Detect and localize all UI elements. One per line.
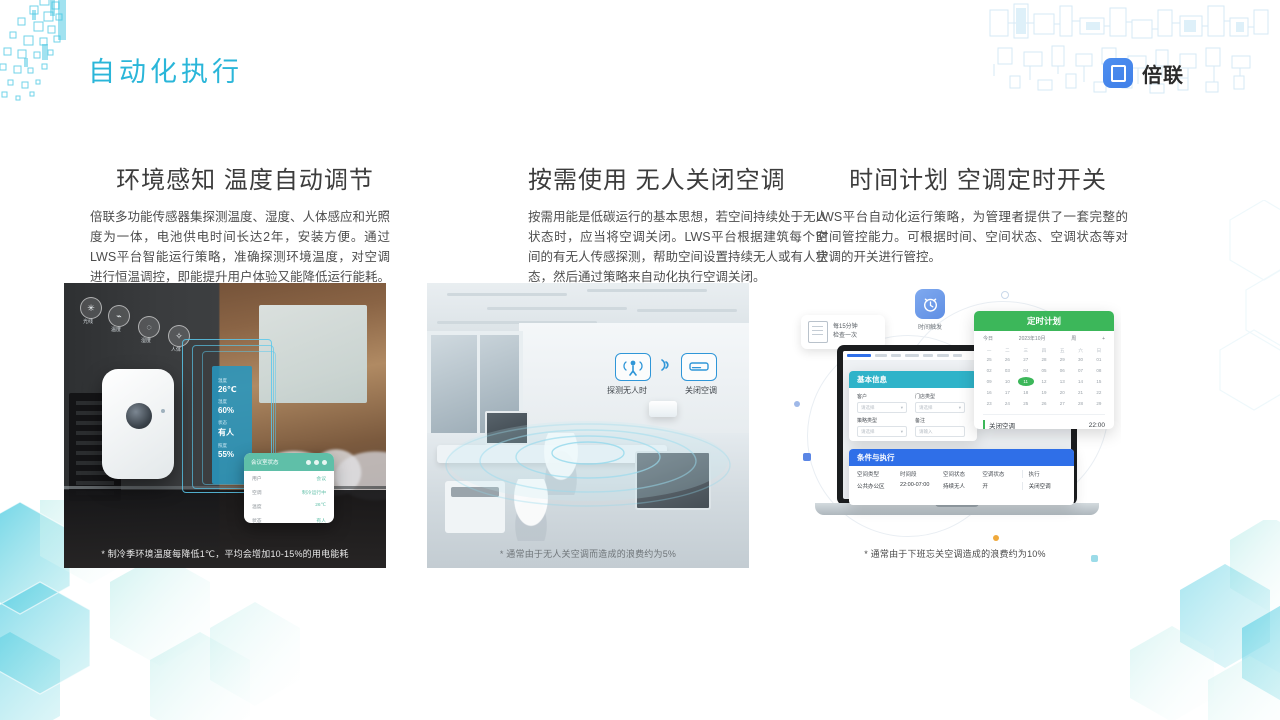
cell-space-status: 持续无人 xyxy=(943,482,982,490)
weekday-label: 六 xyxy=(1072,346,1088,355)
calendar-day-cell[interactable]: 15 xyxy=(1091,377,1107,386)
calendar-day-cell[interactable]: 02 xyxy=(981,366,997,375)
square-logo-icon xyxy=(1103,58,1133,88)
calendar-day-cell[interactable]: 14 xyxy=(1072,377,1088,386)
calendar-day-cell[interactable]: 25 xyxy=(1018,399,1034,408)
condition-panel-title: 条件与执行 xyxy=(849,449,1074,466)
status-card-title: 会议室状态 xyxy=(251,458,279,466)
calendar-day-cell[interactable]: 16 xyxy=(981,388,997,397)
figure-office-photo: 探测无人时 关闭空调 * 通常由于无人关空调而造成的浪费约为5% xyxy=(427,283,749,568)
status-row-2-label: 温度 xyxy=(252,503,262,510)
calendar-day-cell[interactable]: 21 xyxy=(1072,388,1088,397)
calendar-add-button[interactable]: + xyxy=(1102,336,1105,342)
calendar-day-cell[interactable]: 12 xyxy=(1036,377,1052,386)
cell-action: 关闭空调 xyxy=(1022,482,1066,490)
meeting-room-status-card: 会议室状态 用户 会议 空调 制冷运行中 温度 26℃ 状态 有人 xyxy=(244,453,334,523)
check-interval-line-2: 检查一次 xyxy=(833,332,858,341)
humidity-icon: ◌ xyxy=(138,316,160,338)
deco-dot xyxy=(794,401,800,407)
readout-value-2: 有人 xyxy=(218,427,246,438)
figure-sensor-photo: ✳ 光线 ⌁ 温度 ◌ 湿度 ✧ 人体 温度 26℃ 湿度 60% 状态 有人 … xyxy=(64,283,386,568)
field-remark-input[interactable]: 请输入 xyxy=(915,426,965,437)
weekday-label: 五 xyxy=(1054,346,1070,355)
calendar-day-cell[interactable]: 09 xyxy=(981,377,997,386)
calendar-today-button[interactable]: 今日 xyxy=(983,335,993,342)
readout-label-2: 状态 xyxy=(218,420,246,426)
calendar-day-cell[interactable]: 25 xyxy=(981,355,997,364)
column-2-heading: 按需使用 无人关闭空调 xyxy=(528,160,752,195)
col-header-space-status: 空间状态 xyxy=(943,470,982,478)
column-time-schedule: 时间计划 空调定时开关 LWS平台自动化运行策略，为管理者提供了一套完整的时间管… xyxy=(792,160,1124,287)
detection-wave-graphic xyxy=(438,411,738,521)
field-customer-label: 客户 xyxy=(857,393,907,400)
weekday-label: 一 xyxy=(981,346,997,355)
brand-name: 倍联 xyxy=(1142,59,1184,88)
cell-time-range: 22:00-07:00 xyxy=(900,482,943,490)
time-trigger-label: 时间触发 xyxy=(911,322,949,331)
field-remark: 备注 请输入 xyxy=(915,417,965,437)
column-1-heading: 环境感知 温度自动调节 xyxy=(62,160,428,195)
calendar-day-cell[interactable]: 07 xyxy=(1072,366,1088,375)
readout-value-0: 26℃ xyxy=(218,385,246,394)
field-store-type-input[interactable]: 请选择 ▾ xyxy=(915,402,965,413)
alarm-clock-icon xyxy=(915,289,945,319)
temperature-icon: ⌁ xyxy=(108,305,130,327)
field-remark-label: 备注 xyxy=(915,417,965,424)
column-3-heading: 时间计划 空调定时开关 xyxy=(832,160,1124,195)
calendar-day-cell[interactable]: 30 xyxy=(1072,355,1088,364)
table-row: 公共办公区 22:00-07:00 持续无人 开 关闭空调 xyxy=(857,482,1066,490)
calendar-day-cell[interactable]: 27 xyxy=(1054,399,1070,408)
field-strategy-type-label: 策略类型 xyxy=(857,417,907,424)
status-row: 空调 制冷运行中 xyxy=(244,485,334,499)
column-environment-sensing: 环境感知 温度自动调节 倍联多功能传感器集探测温度、湿度、人体感应和光照度为一体… xyxy=(64,160,428,287)
multifunction-sensor-device xyxy=(102,369,174,479)
calendar-event-row[interactable]: 关闭空调 22:00 xyxy=(983,414,1105,429)
readout-label-1: 湿度 xyxy=(218,399,246,405)
calendar-day-cell[interactable]: 11 xyxy=(1018,377,1034,386)
condition-execution-panel: 条件与执行 空间类型 时间段 空间状态 空调状态 执行 公共办公区 22:00-… xyxy=(849,449,1074,505)
weekday-label: 四 xyxy=(1036,346,1052,355)
condition-table: 空间类型 时间段 空间状态 空调状态 执行 公共办公区 22:00-07:00 … xyxy=(849,466,1074,494)
calendar-day-cell[interactable]: 29 xyxy=(1091,399,1107,408)
calendar-day-cell[interactable]: 04 xyxy=(1018,366,1034,375)
status-row: 状态 有人 xyxy=(244,513,334,523)
calendar-view-toggle[interactable]: 周 xyxy=(1071,335,1076,342)
col-header-space-type: 空间类型 xyxy=(857,470,900,478)
calendar-day-cell[interactable]: 08 xyxy=(1091,366,1107,375)
status-row-3-value: 有人 xyxy=(316,517,326,524)
col-header-action: 执行 xyxy=(1022,470,1066,478)
calendar-day-cell[interactable]: 17 xyxy=(999,388,1015,397)
field-customer-placeholder: 请选择 xyxy=(861,405,875,411)
field-remark-placeholder: 请输入 xyxy=(919,429,933,435)
calendar-day-cell[interactable]: 26 xyxy=(999,355,1015,364)
check-interval-line-1: 每15分钟 xyxy=(833,323,858,332)
table-header-row: 空间类型 时间段 空间状态 空调状态 执行 xyxy=(857,470,1066,478)
basic-info-panel: 基本信息 客户 请选择 ▾ 门店类型 请选择 ▾ 策略类型 请选择 xyxy=(849,371,977,441)
cell-ac-status: 开 xyxy=(982,482,1021,490)
deco-dot xyxy=(1001,291,1009,299)
check-interval-badge: 每15分钟 检查一次 xyxy=(801,315,885,349)
column-2-body: 按需用能是低碳运行的基本思想，若空间持续处于无人状态时，应当将空调关闭。LWS平… xyxy=(528,207,828,287)
readout-label-0: 温度 xyxy=(218,378,246,384)
figure-2-icon-row xyxy=(615,353,717,381)
brand-logo: 倍联 xyxy=(1103,58,1184,88)
deco-dot xyxy=(993,535,999,541)
field-strategy-type-input[interactable]: 请选择 ▾ xyxy=(857,426,907,437)
calendar-nav: 今日 2023年10月 周 + xyxy=(974,331,1114,346)
deco-dot xyxy=(803,453,811,461)
calendar-day-cell[interactable]: 28 xyxy=(1036,355,1052,364)
light-icon-label: 光线 xyxy=(83,318,93,325)
col-header-ac-status: 空调状态 xyxy=(982,470,1021,478)
content-columns: 环境感知 温度自动调节 倍联多功能传感器集探测温度、湿度、人体感应和光照度为一体… xyxy=(0,160,1280,287)
calendar-day-cell[interactable]: 10 xyxy=(999,377,1015,386)
readout-value-1: 60% xyxy=(218,406,246,415)
calendar-day-cell[interactable]: 27 xyxy=(1018,355,1034,364)
field-store-type-placeholder: 请选择 xyxy=(919,405,933,411)
motion-icon-label: 人体 xyxy=(171,346,181,353)
chevron-down-icon: ▾ xyxy=(901,405,903,411)
calendar-weekday-row: 一 二 三 四 五 六 日 xyxy=(974,346,1114,355)
air-conditioner-icon xyxy=(681,353,717,381)
calendar-month-label: 2023年10月 xyxy=(1019,335,1046,342)
event-text: 关闭空调 xyxy=(989,423,1015,429)
weekday-label: 三 xyxy=(1018,346,1034,355)
status-card-header: 会议室状态 xyxy=(244,453,334,471)
signal-waves-icon xyxy=(658,357,674,378)
calendar-day-cell[interactable]: 19 xyxy=(1036,388,1052,397)
time-trigger-block: 时间触发 xyxy=(911,289,949,331)
status-row-2-value: 26℃ xyxy=(315,503,326,510)
field-store-type: 门店类型 请选择 ▾ xyxy=(915,393,965,413)
air-conditioner-unit xyxy=(649,401,677,417)
calendar-day-cell[interactable]: 03 xyxy=(999,366,1015,375)
calendar-day-cell[interactable]: 18 xyxy=(1018,388,1034,397)
field-store-type-label: 门店类型 xyxy=(915,393,965,400)
column-1-body: 倍联多功能传感器集探测温度、湿度、人体感应和光照度为一体，电池供电时间长达2年，… xyxy=(90,207,390,287)
field-strategy-type: 策略类型 请选择 ▾ xyxy=(857,417,907,437)
detect-unoccupied-label: 探测无人时 xyxy=(607,385,647,396)
schedule-calendar-panel: 定时计划 今日 2023年10月 周 + 一 二 三 四 五 六 日 25262… xyxy=(974,311,1114,429)
readout-label-3: 照度 xyxy=(218,443,246,449)
calendar-day-cell[interactable]: 01 xyxy=(1091,355,1107,364)
col-header-time-range: 时间段 xyxy=(900,470,943,478)
turn-off-ac-label: 关闭空调 xyxy=(685,385,717,396)
calendar-day-cell[interactable]: 24 xyxy=(999,399,1015,408)
light-icon: ✳ xyxy=(80,297,102,319)
status-row-3-label: 状态 xyxy=(252,517,262,524)
weekday-label: 日 xyxy=(1091,346,1107,355)
field-customer-input[interactable]: 请选择 ▾ xyxy=(857,402,907,413)
calendar-day-cell[interactable]: 20 xyxy=(1054,388,1070,397)
field-strategy-type-placeholder: 请选择 xyxy=(861,429,875,435)
status-row-1-value: 制冷运行中 xyxy=(302,489,326,496)
humidity-icon-label: 湿度 xyxy=(141,337,151,344)
figure-3-caption: * 通常由于下班忘关空调造成的浪费约为10% xyxy=(789,547,1121,560)
calendar-day-cell[interactable]: 22 xyxy=(1091,388,1107,397)
presence-sensor-icon xyxy=(615,353,651,381)
status-row: 温度 26℃ xyxy=(244,499,334,513)
calendar-day-cell[interactable]: 06 xyxy=(1054,366,1070,375)
figure-2-caption: * 通常由于无人关空调而造成的浪费约为5% xyxy=(427,547,749,560)
calendar-day-cell[interactable]: 28 xyxy=(1072,399,1088,408)
figure-1-caption: * 制冷季环境温度每降低1℃，平均会增加10-15%的用电能耗 xyxy=(64,547,386,560)
calendar-event-time: 22:00 xyxy=(1089,422,1105,429)
cell-space-type: 公共办公区 xyxy=(857,482,900,490)
status-row-1-label: 空调 xyxy=(252,489,262,496)
chevron-down-icon: ▾ xyxy=(959,405,961,411)
page-title: 自动化执行 xyxy=(88,50,243,89)
status-row-0-label: 用户 xyxy=(252,475,262,482)
calendar-event-label: 关闭空调 xyxy=(983,420,1015,429)
sensor-lens-icon xyxy=(126,403,152,429)
calendar-day-cell[interactable]: 23 xyxy=(981,399,997,408)
calendar-day-cell[interactable]: 29 xyxy=(1054,355,1070,364)
field-customer: 客户 请选择 ▾ xyxy=(857,393,907,413)
temperature-icon-label: 温度 xyxy=(111,326,121,333)
status-row-0-value: 会议 xyxy=(316,475,326,482)
column-3-body: LWS平台自动化运行策略，为管理者提供了一套完整的时间管控能力。可根据时间、空间… xyxy=(816,207,1128,267)
status-row: 用户 会议 xyxy=(244,471,334,485)
chevron-down-icon: ▾ xyxy=(901,429,903,435)
document-search-icon xyxy=(808,321,828,343)
basic-info-title: 基本信息 xyxy=(849,371,977,388)
calendar-title: 定时计划 xyxy=(974,311,1114,331)
calendar-day-cell[interactable]: 26 xyxy=(1036,399,1052,408)
figure-2-labels: 探测无人时 关闭空调 xyxy=(607,385,717,396)
window-dots-icon xyxy=(306,460,327,465)
sensor-led-icon xyxy=(161,409,165,413)
calendar-day-grid[interactable]: 2526272829300102030405060708091011121314… xyxy=(974,355,1114,408)
weekday-label: 二 xyxy=(999,346,1015,355)
readout-value-3: 55% xyxy=(218,450,246,459)
calendar-day-cell[interactable]: 05 xyxy=(1036,366,1052,375)
check-interval-text: 每15分钟 检查一次 xyxy=(833,323,858,341)
figure-schedule-dashboard: 每15分钟 检查一次 时间触发 基本信息 客户 请 xyxy=(789,283,1121,568)
column-on-demand-use: 按需使用 无人关闭空调 按需用能是低碳运行的基本思想，若空间持续处于无人状态时，… xyxy=(428,160,752,287)
calendar-day-cell[interactable]: 13 xyxy=(1054,377,1070,386)
basic-info-fields: 客户 请选择 ▾ 门店类型 请选择 ▾ 策略类型 请选择 ▾ xyxy=(849,388,977,441)
